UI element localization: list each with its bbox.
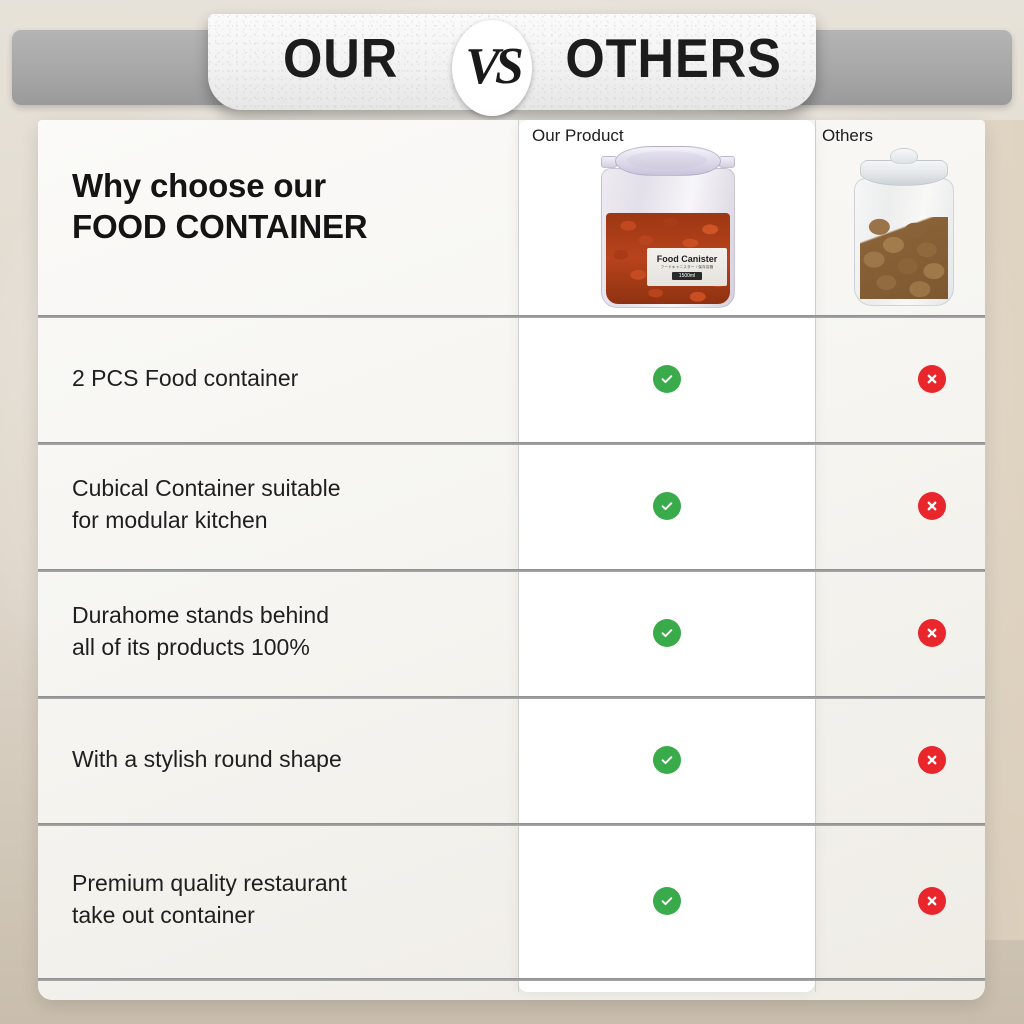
feature-label-line2: all of its products 100% xyxy=(72,631,502,664)
our-product-image: Food Canister フードキャニスター / 保存容器 1500ml xyxy=(593,138,743,313)
check-icon xyxy=(653,887,681,915)
column-divider-1 xyxy=(518,120,519,992)
feature-label-line1: Cubical Container suitable xyxy=(72,472,502,505)
check-icon xyxy=(653,619,681,647)
cross-icon xyxy=(918,746,946,774)
row-divider-2 xyxy=(38,569,985,572)
cross-icon xyxy=(918,887,946,915)
feature-label-line2: for modular kitchen xyxy=(72,504,502,537)
row-divider-3 xyxy=(38,696,985,699)
feature-label-line1: Premium quality restaurant xyxy=(72,867,502,900)
canister-body xyxy=(601,168,735,308)
vs-badge: VS xyxy=(452,20,532,116)
vs-badge-text: VS xyxy=(465,37,519,96)
feature-label-line1: Durahome stands behind xyxy=(72,599,502,632)
cross-icon xyxy=(918,492,946,520)
versus-banner: OUR VS OTHERS xyxy=(0,0,1024,120)
column-divider-2 xyxy=(815,120,816,992)
cross-icon xyxy=(918,365,946,393)
check-icon xyxy=(653,746,681,774)
feature-label-line1: 2 PCS Food container xyxy=(72,362,502,395)
canister-lid-inner xyxy=(627,151,707,169)
check-icon xyxy=(653,492,681,520)
feature-label: 2 PCS Food container xyxy=(72,362,502,395)
row-divider-5 xyxy=(38,978,985,981)
row-divider-1 xyxy=(38,442,985,445)
feature-label: Premium quality restauranttake out conta… xyxy=(72,867,502,932)
page-title-line1: Why choose our xyxy=(72,166,492,207)
banner-label-others: OTHERS xyxy=(565,26,781,90)
feature-label: With a stylish round shape xyxy=(72,743,502,776)
page-title-line2: FOOD CONTAINER xyxy=(72,207,492,248)
others-product-image xyxy=(848,142,960,310)
canister-label-title: Food Canister xyxy=(657,254,718,264)
cross-icon xyxy=(918,619,946,647)
feature-label-line1: With a stylish round shape xyxy=(72,743,502,776)
feature-label: Durahome stands behindall of its product… xyxy=(72,599,502,664)
check-icon xyxy=(653,365,681,393)
canister-clip-right xyxy=(719,156,735,168)
row-divider-4 xyxy=(38,823,985,826)
glass-jar-body xyxy=(854,178,954,306)
canister-label-subtitle: フードキャニスター / 保存容器 xyxy=(661,265,714,270)
banner-label-our: OUR xyxy=(283,26,398,90)
glass-jar-knob xyxy=(890,148,918,164)
comparison-table: Our Product Others Why choose our FOOD C… xyxy=(38,120,985,1000)
glass-jar-walnuts xyxy=(860,217,948,299)
page-title: Why choose our FOOD CONTAINER xyxy=(72,166,492,247)
canister-label: Food Canister フードキャニスター / 保存容器 1500ml xyxy=(647,248,727,286)
feature-label-line2: take out container xyxy=(72,899,502,932)
row-divider-0 xyxy=(38,315,985,318)
comparison-infographic: OUR VS OTHERS Our Product Others Why cho… xyxy=(0,0,1024,1024)
canister-volume-badge: 1500ml xyxy=(672,272,702,280)
feature-label: Cubical Container suitablefor modular ki… xyxy=(72,472,502,537)
